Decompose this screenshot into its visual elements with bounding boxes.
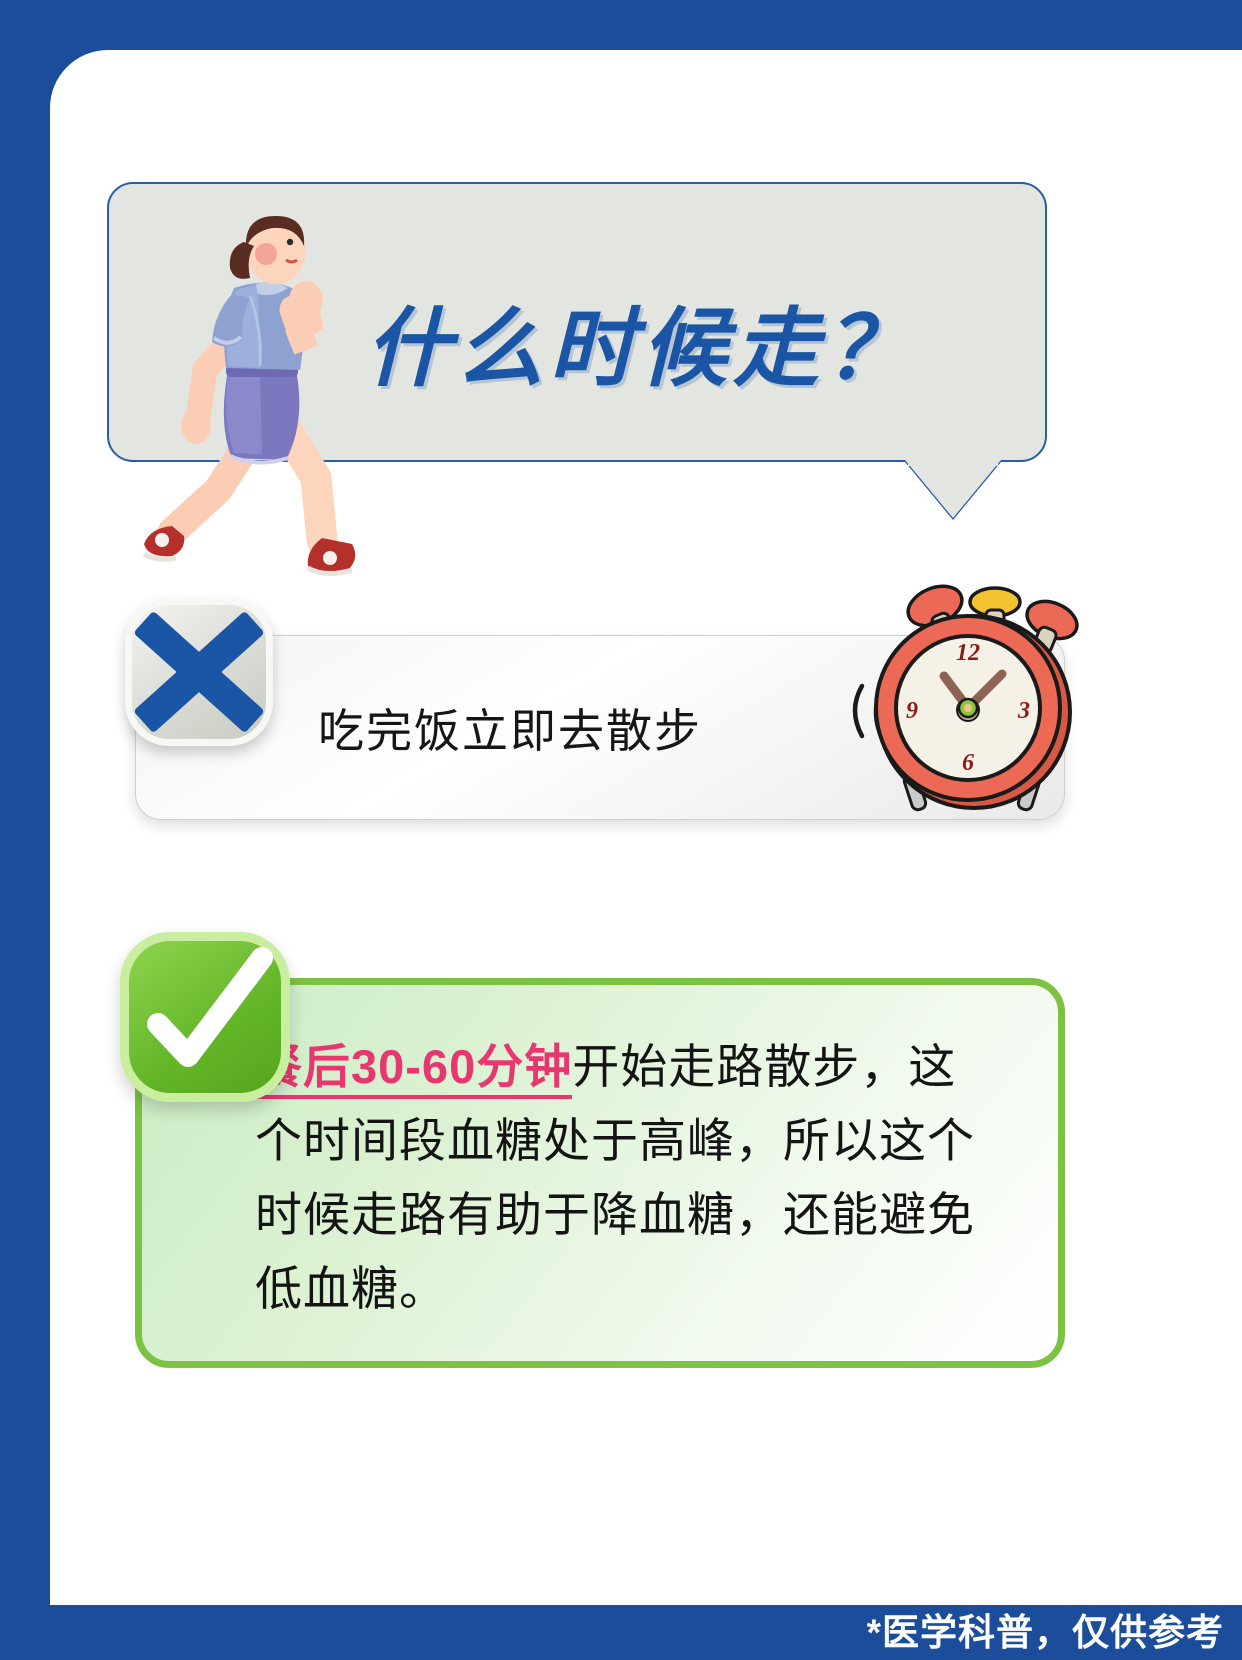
alarm-clock-icon: 12 3 6 9	[840, 578, 1100, 838]
speech-bubble-tail-icon	[905, 460, 1001, 518]
check-icon-stroke	[120, 932, 290, 1102]
right-practice-row: 餐后30-60分钟开始走路散步，这个时间段血糖处于高峰，所以这个时候走路有助于降…	[50, 910, 1242, 1390]
svg-text:3: 3	[1017, 698, 1030, 724]
svg-text:9: 9	[906, 698, 918, 724]
svg-text:12: 12	[956, 640, 980, 666]
footer-bar: *医学科普，仅供参考	[0, 1605, 1242, 1660]
check-mark-icon	[120, 932, 290, 1102]
highlight-text: 餐后30-60分钟	[255, 1040, 572, 1099]
right-practice-text: 餐后30-60分钟开始走路散步，这个时间段血糖处于高峰，所以这个时候走路有助于降…	[255, 1030, 995, 1326]
speech-bubble-tail-seam	[908, 454, 998, 466]
svg-text:6: 6	[962, 750, 974, 776]
x-mark-icon	[125, 598, 273, 746]
poster-root: 什么时候走？ 吃完饭立即去散步	[0, 0, 1242, 1660]
page-title: 什么时候走？	[365, 278, 917, 403]
wrong-practice-row: 吃完饭立即去散步	[50, 570, 1242, 870]
disclaimer-text: *医学科普，仅供参考	[867, 1614, 1224, 1651]
header-section: 什么时候走？	[50, 50, 1242, 520]
white-card: 什么时候走？ 吃完饭立即去散步	[50, 50, 1242, 1607]
